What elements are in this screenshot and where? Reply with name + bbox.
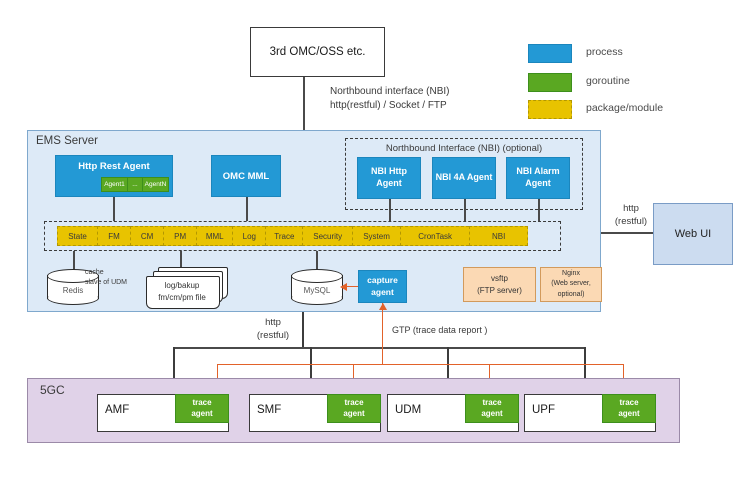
http-link-line1: http — [248, 317, 298, 330]
redis-note: cache slave of UDM — [85, 268, 145, 288]
vsftp-line2: (FTP server) — [477, 285, 522, 297]
module-pm[interactable]: PM — [163, 226, 196, 246]
http-trunk-vertical — [302, 312, 304, 348]
http-trunk-horizontal — [173, 347, 585, 349]
legend: process goroutine package/module — [528, 40, 743, 118]
legend-label-goroutine: goroutine — [586, 75, 630, 87]
connector-nbi-4a-to-modules — [464, 199, 466, 221]
web-ui-label: Web UI — [675, 228, 711, 240]
http-rest-agent-box[interactable]: Http Rest Agent Agent1 ... AgentN — [55, 155, 173, 197]
capture-agent-line1: capture — [367, 275, 398, 286]
module-system[interactable]: System — [352, 226, 400, 246]
nginx-line3: optional) — [558, 290, 585, 301]
trace-agent-udm[interactable]: trace agent — [465, 394, 519, 423]
core-network-title: 5GC — [40, 383, 65, 397]
third-party-oss-box[interactable]: 3rd OMC/OSS etc. — [250, 27, 385, 77]
gtp-trunk-vertical — [382, 303, 383, 365]
web-ui-link-line2: (restful) — [606, 216, 656, 229]
mysql-label: MySQL — [291, 269, 343, 305]
nbi-alarm-agent-label: NBI Alarm Agent — [507, 166, 569, 189]
nf-box-amf[interactable]: AMF trace agent — [97, 394, 229, 432]
trace-agent-upf-line1: trace — [619, 398, 638, 409]
nbi-http-agent-box[interactable]: NBI Http Agent — [357, 157, 421, 199]
vsftp-line1: vsftp — [491, 273, 508, 285]
http-link-label: http (restful) — [248, 317, 298, 343]
web-ui-box[interactable]: Web UI — [653, 203, 733, 265]
trace-agent-amf[interactable]: trace agent — [175, 394, 229, 423]
trace-agent-smf-line1: trace — [344, 398, 363, 409]
legend-label-package-module: package/module — [586, 102, 663, 114]
vsftp-box[interactable]: vsftp (FTP server) — [463, 267, 536, 302]
goroutine-agent-1[interactable]: Agent1 — [101, 177, 127, 192]
omc-mml-label: OMC MML — [223, 171, 269, 182]
http-link-line2: (restful) — [248, 330, 298, 343]
goroutine-agent-n[interactable]: AgentN — [142, 177, 169, 192]
module-cm[interactable]: CM — [130, 226, 163, 246]
trace-agent-smf-line2: agent — [343, 409, 364, 420]
nginx-line1: Nginx — [562, 269, 580, 280]
ems-server-title: EMS Server — [36, 135, 98, 147]
goroutine-agent-ellipsis: ... — [127, 177, 142, 192]
connector-nbi-alarm-to-modules — [538, 199, 540, 221]
trace-agent-upf-line2: agent — [618, 409, 639, 420]
module-nbi[interactable]: NBI — [469, 226, 528, 246]
nbi-alarm-agent-box[interactable]: NBI Alarm Agent — [506, 157, 570, 199]
nbi-group-title: Northbound Interface (NBI) (optional) — [345, 141, 583, 155]
file-stack-line1: log/bakup — [165, 280, 200, 292]
connector-modules-to-files — [180, 251, 182, 267]
nbi-connector-line — [303, 77, 305, 130]
gtp-link-label: GTP (trace data report ) — [392, 325, 487, 335]
nf-label-amf: AMF — [105, 404, 129, 416]
module-mml[interactable]: MML — [196, 226, 232, 246]
capture-agent-box[interactable]: capture agent — [358, 270, 407, 303]
nbi-interface-label-line2: http(restful) / Socket / FTP — [330, 99, 540, 113]
connector-omc-mml-to-modules — [246, 197, 248, 221]
nf-box-upf[interactable]: UPF trace agent — [524, 394, 656, 432]
redis-note-line1: cache — [85, 268, 145, 278]
nbi-4a-agent-label: NBI 4A Agent — [436, 172, 493, 184]
nf-label-smf: SMF — [257, 404, 281, 416]
module-crontask[interactable]: CronTask — [400, 226, 469, 246]
web-ui-link-label: http (restful) — [606, 203, 656, 229]
nf-box-smf[interactable]: SMF trace agent — [249, 394, 381, 432]
module-fm[interactable]: FM — [97, 226, 130, 246]
module-security[interactable]: Security — [302, 226, 352, 246]
web-ui-connector-line — [601, 232, 653, 234]
capture-agent-to-mysql-arrowhead — [340, 283, 347, 291]
connector-modules-to-mysql — [316, 251, 318, 270]
nginx-box[interactable]: Nginx (Web server, optional) — [540, 267, 602, 302]
trace-agent-amf-line1: trace — [192, 398, 211, 409]
capture-agent-line2: agent — [371, 287, 394, 298]
legend-label-process: process — [586, 46, 623, 58]
trace-agent-smf[interactable]: trace agent — [327, 394, 381, 423]
web-ui-link-line1: http — [606, 203, 656, 216]
connector-http-rest-agent-to-modules — [113, 197, 115, 221]
nginx-line2: (Web server, — [551, 279, 591, 290]
nbi-4a-agent-box[interactable]: NBI 4A Agent — [432, 157, 496, 199]
nbi-interface-label: Northbound interface (NBI) http(restful)… — [330, 85, 540, 112]
module-log[interactable]: Log — [232, 226, 265, 246]
connector-modules-to-redis — [73, 251, 75, 270]
nbi-interface-label-line1: Northbound interface (NBI) — [330, 85, 540, 99]
nbi-http-agent-label: NBI Http Agent — [358, 166, 420, 189]
gtp-trunk-horizontal — [217, 364, 623, 365]
gtp-trunk-arrowhead — [379, 303, 387, 310]
trace-agent-upf[interactable]: trace agent — [602, 394, 656, 423]
module-trace[interactable]: Trace — [265, 226, 302, 246]
trace-agent-udm-line2: agent — [481, 409, 502, 420]
redis-note-line2: slave of UDM — [85, 278, 145, 288]
mysql-database-icon: MySQL — [291, 269, 343, 305]
connector-nbi-http-to-modules — [389, 199, 391, 221]
module-state[interactable]: State — [57, 226, 97, 246]
omc-mml-box[interactable]: OMC MML — [211, 155, 281, 197]
third-party-oss-label: 3rd OMC/OSS etc. — [270, 46, 366, 58]
modules-bar: State FM CM PM MML Log Trace Security Sy… — [57, 226, 528, 246]
log-backup-file-stack-icon: log/bakup fm/cm/pm file — [146, 267, 226, 307]
nf-label-upf: UPF — [532, 404, 555, 416]
trace-agent-udm-line1: trace — [482, 398, 501, 409]
file-stack-line2: fm/cm/pm file — [158, 292, 206, 304]
legend-swatch-process — [528, 44, 572, 63]
nf-label-udm: UDM — [395, 404, 421, 416]
nf-box-udm[interactable]: UDM trace agent — [387, 394, 519, 432]
file-stack-labels: log/bakup fm/cm/pm file — [146, 276, 218, 307]
trace-agent-amf-line2: agent — [191, 409, 212, 420]
http-rest-agent-title: Http Rest Agent — [56, 159, 172, 174]
